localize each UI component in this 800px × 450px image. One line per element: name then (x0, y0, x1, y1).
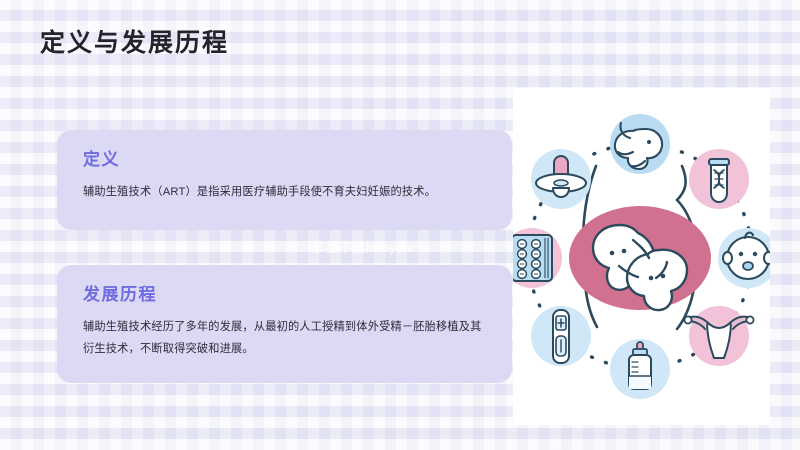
baby-face-icon[interactable] (718, 228, 770, 288)
dna-test-tube-icon[interactable] (689, 149, 749, 209)
card-body: 辅助生殖技术（ART）是指采用医疗辅助手段使不育夫妇妊娠的技术。 (83, 182, 488, 204)
page-title: 定义与发展历程 (40, 28, 229, 58)
illustration-panel (513, 88, 770, 425)
fetus-icon[interactable] (610, 114, 670, 174)
pill-blister-icon[interactable] (513, 228, 562, 288)
uterus-icon[interactable] (684, 306, 753, 366)
pregnancy-test-icon[interactable] (531, 306, 591, 366)
content-card-history[interactable]: 发展历程 辅助生殖技术经历了多年的发展，从最初的人工授精到体外受精－胚胎移植及其… (57, 265, 512, 383)
baby-bottle-icon[interactable] (610, 339, 670, 399)
card-body: 辅助生殖技术经历了多年的发展，从最初的人工授精到体外受精－胚胎移植及其衍生技术，… (83, 317, 488, 361)
womb-twins-motif (569, 206, 711, 310)
content-card-definition[interactable]: 定义 辅助生殖技术（ART）是指采用医疗辅助手段使不育夫妇妊娠的技术。 (57, 130, 512, 230)
card-heading: 发展历程 (83, 285, 488, 305)
art-cycle-illustration (513, 88, 770, 425)
pacifier-icon[interactable] (531, 149, 591, 209)
card-heading: 定义 (83, 150, 488, 170)
slide-root: 定义与发展历程 定义 辅助生殖技术（ART）是指采用医疗辅助手段使不育夫妇妊娠的… (0, 0, 800, 450)
watermark-text: 拿捏不准babycar (312, 237, 416, 256)
